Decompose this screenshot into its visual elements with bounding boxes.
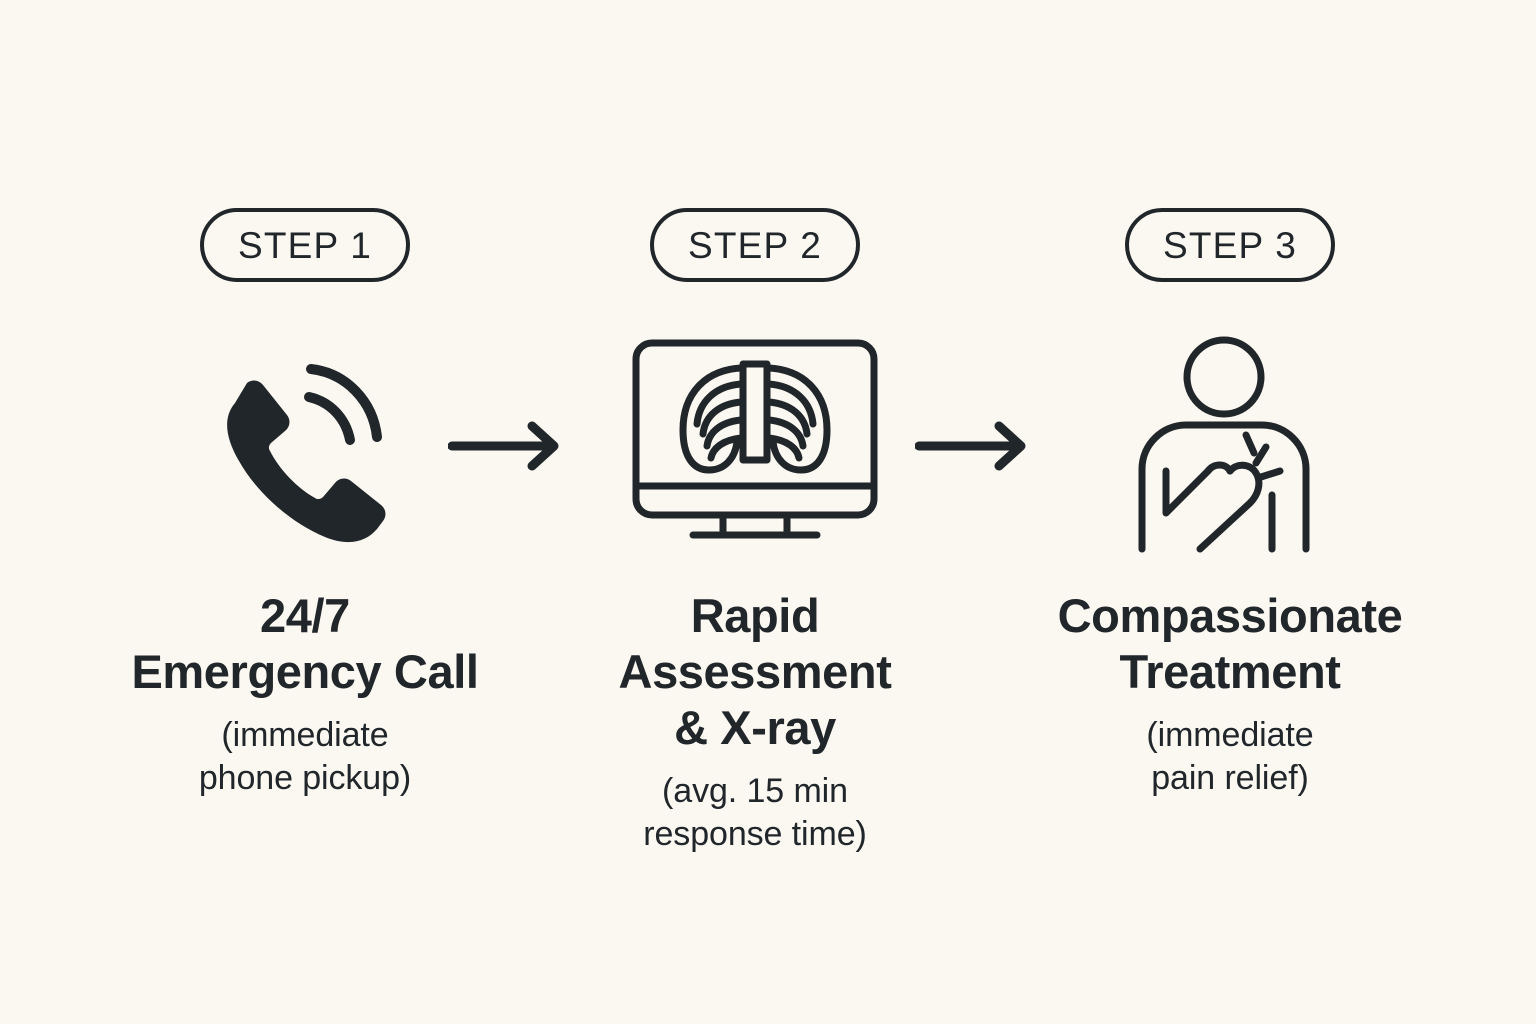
step-subline-3: (immediate pain relief) (1015, 714, 1445, 800)
subline-line: pain relief) (1015, 757, 1445, 800)
headline-line: Assessment (540, 644, 970, 700)
process-infographic: STEP 1 24/7 Emergency Call (immediate (0, 0, 1536, 1024)
subline-line: (immediate (1015, 714, 1445, 757)
step-headline-3: Compassionate Treatment (1015, 588, 1445, 700)
phone-ringing-icon (205, 345, 405, 545)
step-badge-row-1: STEP 1 (90, 208, 520, 282)
subline-line: (avg. 15 min (540, 770, 970, 813)
step-text-3: Compassionate Treatment (immediate pain … (1015, 588, 1445, 800)
step-badge-row-2: STEP 2 (540, 208, 970, 282)
step-badge-1: STEP 1 (200, 208, 410, 282)
headline-line: Compassionate (1015, 588, 1445, 644)
step-icon-2 (540, 330, 970, 560)
subline-line: phone pickup) (90, 757, 520, 800)
step-headline-2: Rapid Assessment & X-ray (540, 588, 970, 756)
headline-line: Treatment (1015, 644, 1445, 700)
step-headline-1: 24/7 Emergency Call (90, 588, 520, 700)
headline-line: Rapid (540, 588, 970, 644)
headline-line: & X-ray (540, 700, 970, 756)
step-icon-3 (1015, 330, 1445, 560)
step-subline-2: (avg. 15 min response time) (540, 770, 970, 856)
step-badge-3: STEP 3 (1125, 208, 1335, 282)
step-text-1: 24/7 Emergency Call (immediate phone pic… (90, 588, 520, 800)
subline-line: (immediate (90, 714, 520, 757)
step-badge-row-3: STEP 3 (1015, 208, 1445, 282)
subline-line: response time) (540, 813, 970, 856)
xray-monitor-icon (631, 338, 879, 553)
step-subline-1: (immediate phone pickup) (90, 714, 520, 800)
step-text-2: Rapid Assessment & X-ray (avg. 15 min re… (540, 588, 970, 855)
headline-line: Emergency Call (90, 644, 520, 700)
step-badge-2: STEP 2 (650, 208, 860, 282)
patient-chest-pain-relief-icon (1130, 335, 1330, 555)
headline-line: 24/7 (90, 588, 520, 644)
